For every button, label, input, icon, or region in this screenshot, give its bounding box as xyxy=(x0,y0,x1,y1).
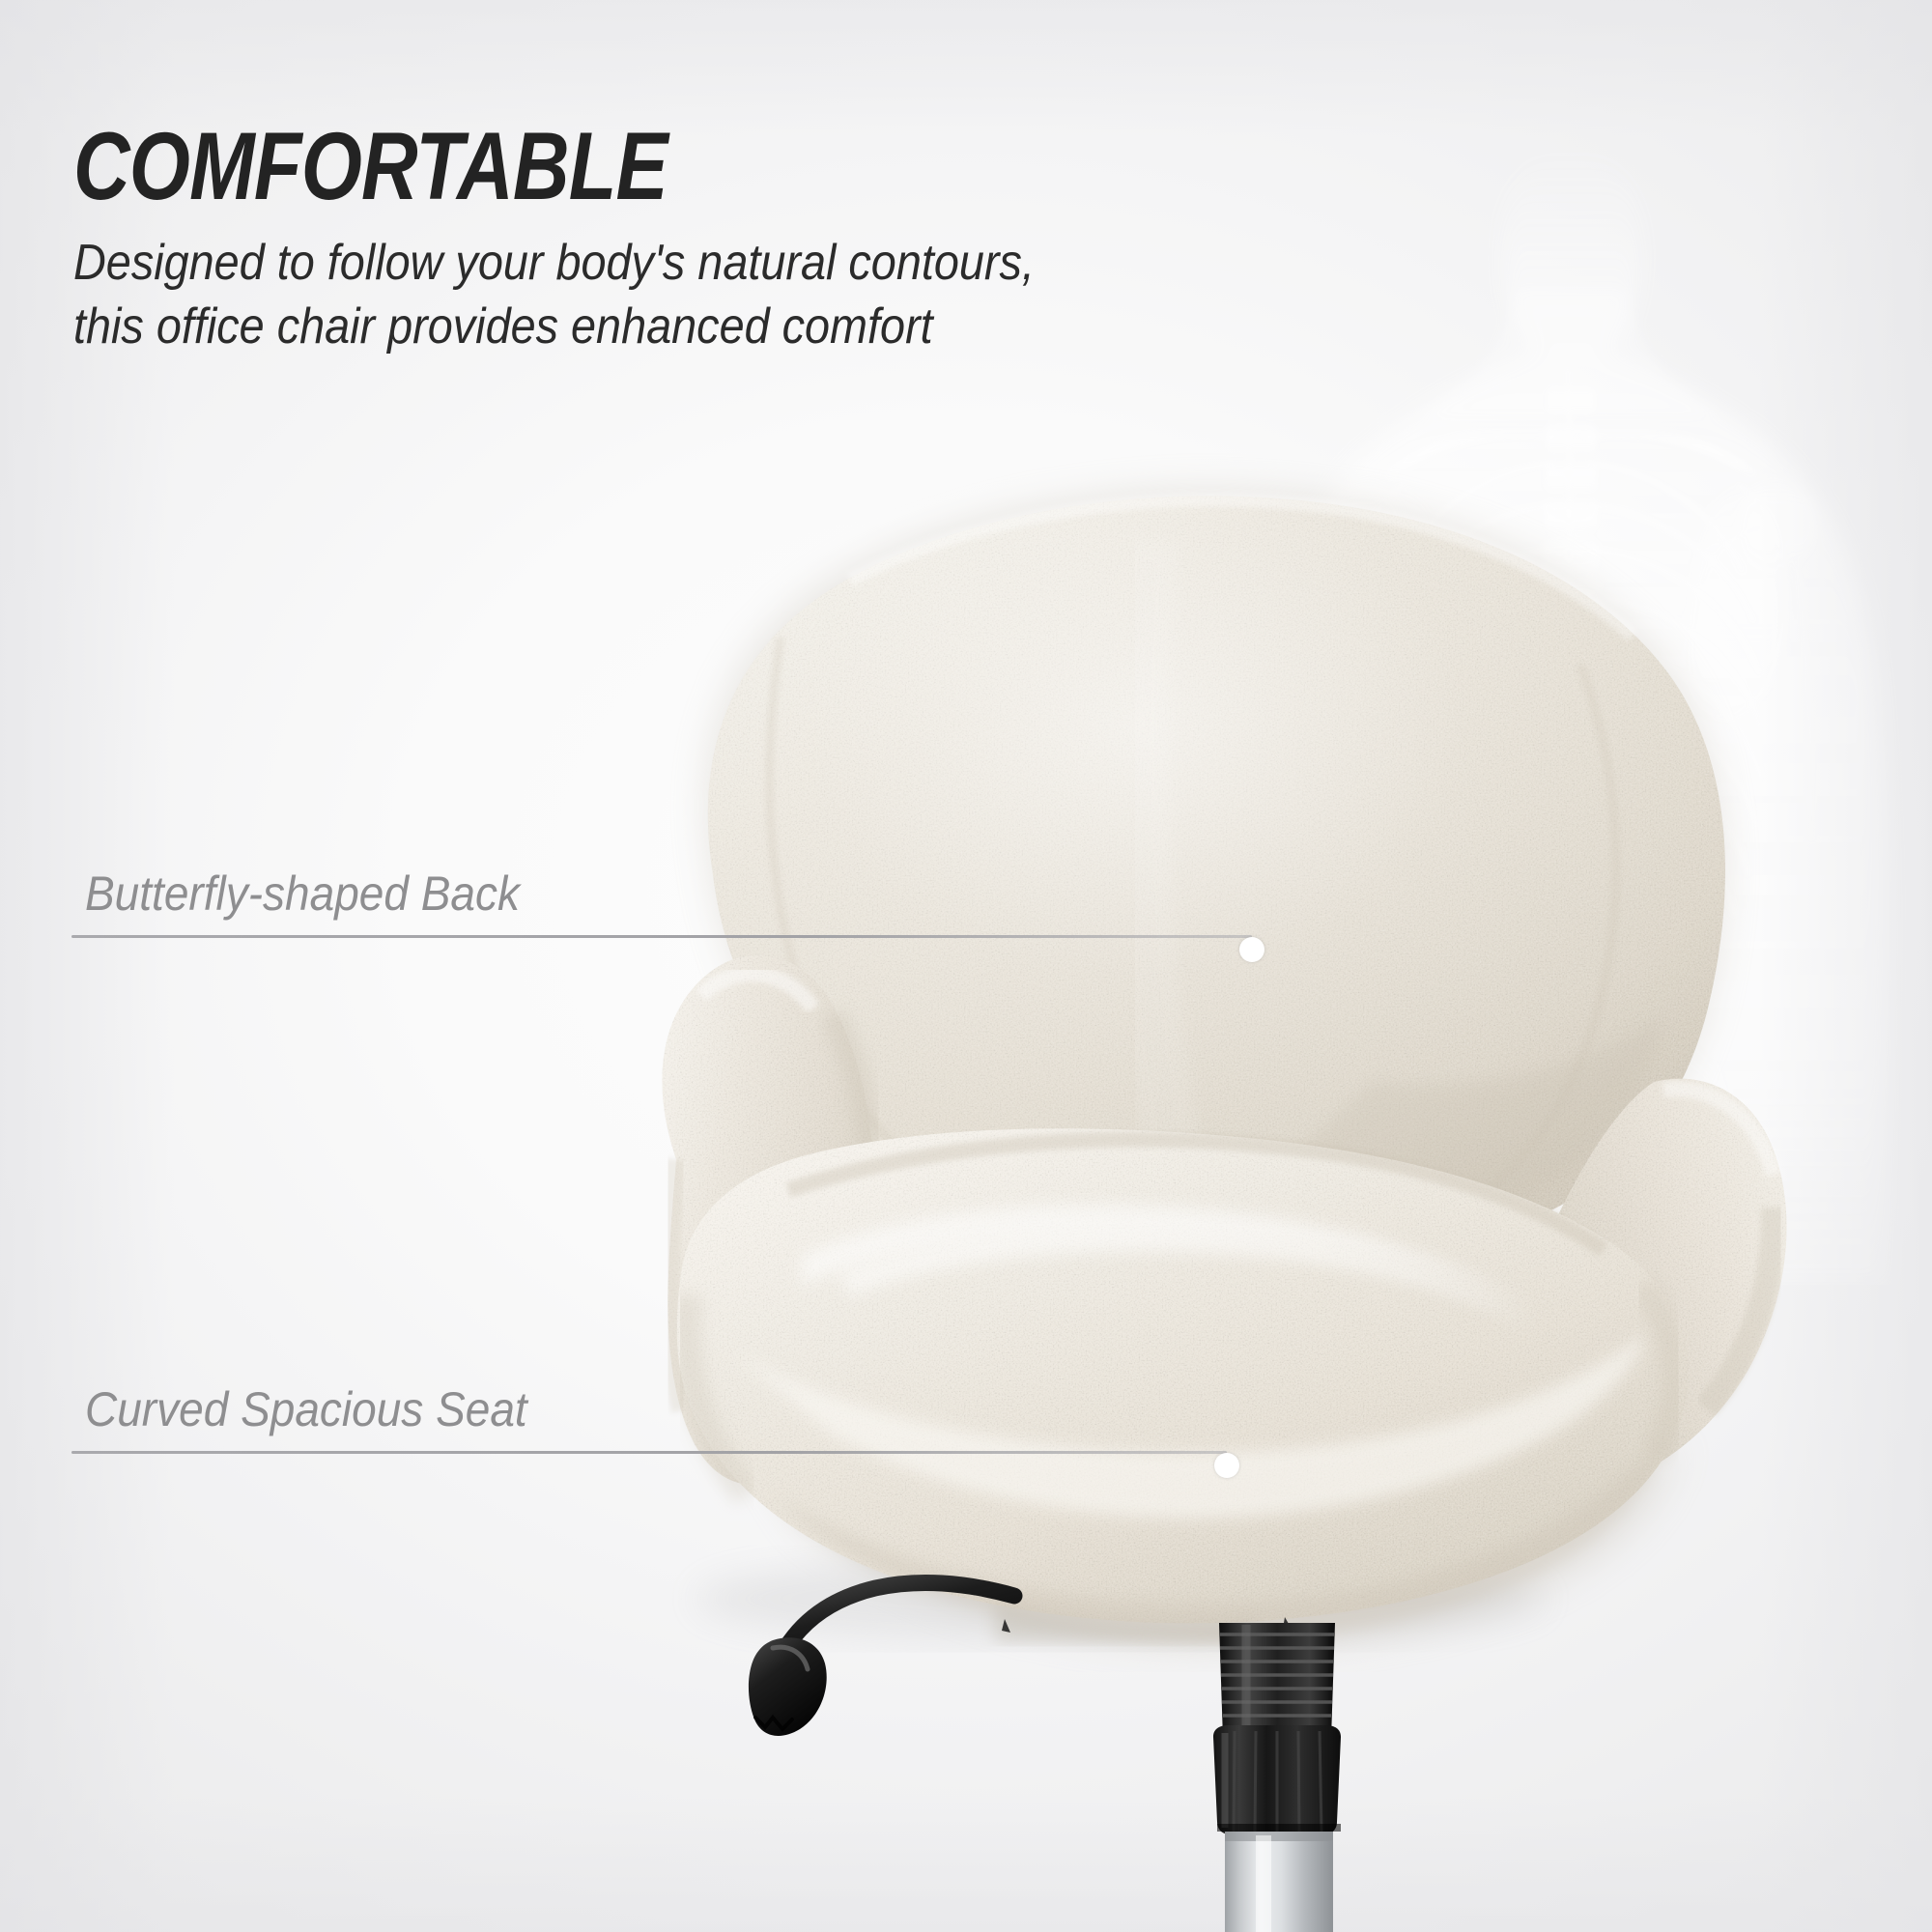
callout-butterfly-back: Butterfly-shaped Back xyxy=(71,866,1252,938)
callout-leader-line-butterfly-back xyxy=(71,935,1252,938)
callout-leader-line-curved-seat xyxy=(71,1451,1227,1454)
callout-label-butterfly-back: Butterfly-shaped Back xyxy=(85,866,1158,922)
subtitle-line-1: Designed to follow your body's natural c… xyxy=(73,232,1099,296)
page-title: COMFORTABLE xyxy=(73,118,668,213)
black-collar xyxy=(1213,1725,1341,1835)
callout-dot-butterfly-back xyxy=(1239,937,1264,962)
chair-base-mechanism xyxy=(749,1582,1341,1932)
callout-curved-seat: Curved Spacious Seat xyxy=(71,1381,1227,1454)
ribbed-gas-sleeve xyxy=(1219,1623,1335,1739)
callout-label-curved-seat: Curved Spacious Seat xyxy=(85,1381,1135,1437)
subtitle: Designed to follow your body's natural c… xyxy=(73,232,1099,358)
callout-dot-curved-seat xyxy=(1214,1453,1239,1478)
chrome-cylinder xyxy=(1225,1832,1333,1932)
product-feature-panel: COMFORTABLE Designed to follow your body… xyxy=(0,0,1932,1932)
subtitle-line-2: this office chair provides enhanced comf… xyxy=(73,296,1099,359)
